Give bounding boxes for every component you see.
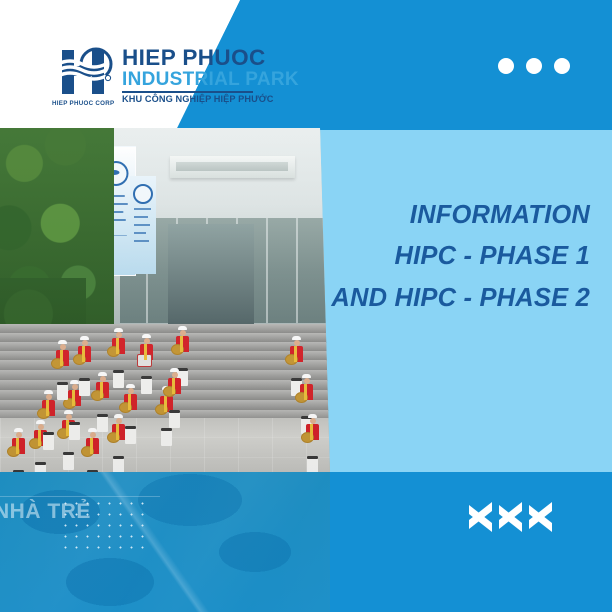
- footer-photo-overlay: [0, 472, 330, 612]
- chevron-left-icon-2[interactable]: [496, 497, 522, 537]
- footer-watermark-rule: [0, 496, 160, 497]
- hero-photo: [0, 128, 340, 473]
- footer-dot-grid: [60, 498, 152, 555]
- brand-logo-text: HIEP PHUOC INDUSTRIAL PARK KHU CÔNG NGHI…: [122, 44, 299, 104]
- title-line-1: INFORMATION: [300, 195, 590, 236]
- page-title: INFORMATION HIPC - PHASE 1 AND HIPC - PH…: [300, 195, 590, 319]
- title-line-2: HIPC - PHASE 1: [300, 236, 590, 277]
- dot-icon-2: [526, 58, 542, 74]
- footer-chevrons[interactable]: [466, 497, 552, 537]
- chevron-left-icon-3[interactable]: [526, 497, 552, 537]
- hiep-phuoc-h-wave-logo-icon: HIEP PHUOC CORP: [52, 44, 114, 106]
- dot-icon-1: [498, 58, 514, 74]
- brand-name-line1: HIEP PHUOC: [122, 47, 299, 70]
- photo-tone-overlay: [0, 128, 340, 473]
- brand-name-vietnamese: KHU CÔNG NGHIỆP HIỆP PHƯỚC: [122, 95, 299, 104]
- dot-icon-3: [554, 58, 570, 74]
- brand-name-line2: INDUSTRIAL PARK: [122, 70, 299, 90]
- title-line-3: AND HIPC - PHASE 2: [300, 278, 590, 319]
- brand-logo: HIEP PHUOC CORP HIEP PHUOC INDUSTRIAL PA…: [52, 44, 299, 106]
- slide-canvas: HIEP PHUOC CORP HIEP PHUOC INDUSTRIAL PA…: [0, 0, 612, 612]
- header-dots: [498, 58, 570, 74]
- brand-divider: [122, 91, 253, 93]
- chevron-left-icon-1[interactable]: [466, 497, 492, 537]
- logo-corp-tagline: HIEP PHUOC CORP: [52, 100, 114, 107]
